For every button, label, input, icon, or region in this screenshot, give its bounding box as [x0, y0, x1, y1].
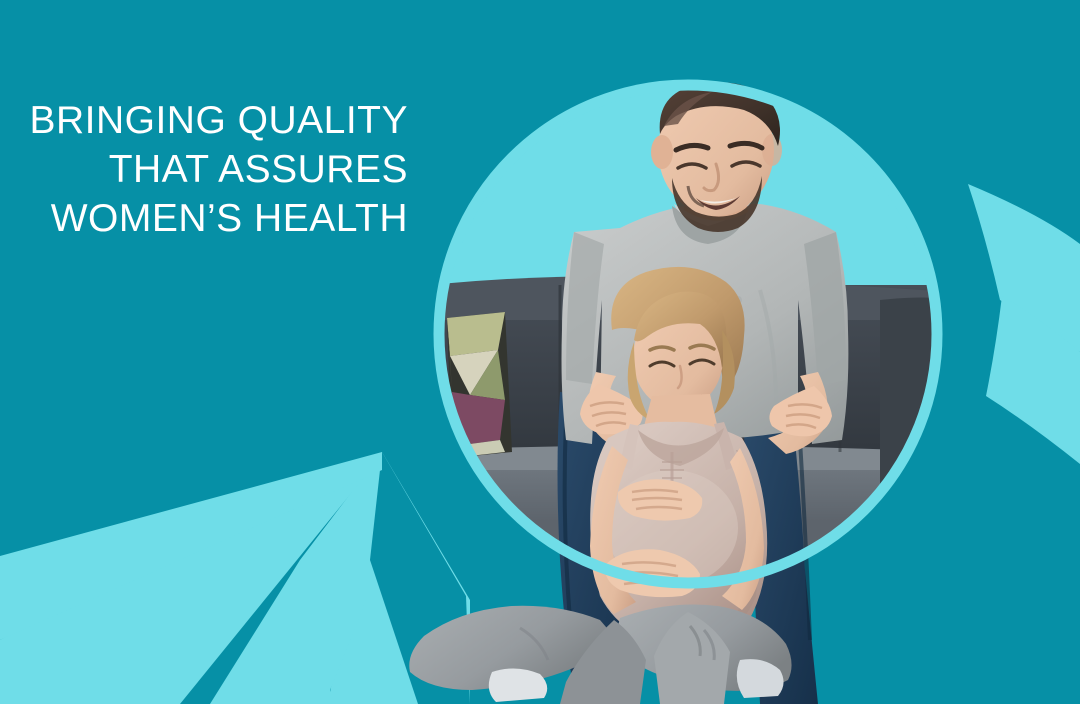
headline-line-1: BRINGING QUALITY: [0, 96, 408, 145]
headline-line-2: THAT ASSURES: [0, 145, 408, 194]
accent-circle-ring: [439, 85, 937, 583]
page-title: BRINGING QUALITY THAT ASSURES WOMEN’S HE…: [0, 96, 408, 243]
headline-line-3: WOMEN’S HEALTH: [0, 194, 408, 243]
hero-banner: BRINGING QUALITY THAT ASSURES WOMEN’S HE…: [0, 0, 1080, 704]
right-arrow-shape: [968, 184, 1080, 464]
